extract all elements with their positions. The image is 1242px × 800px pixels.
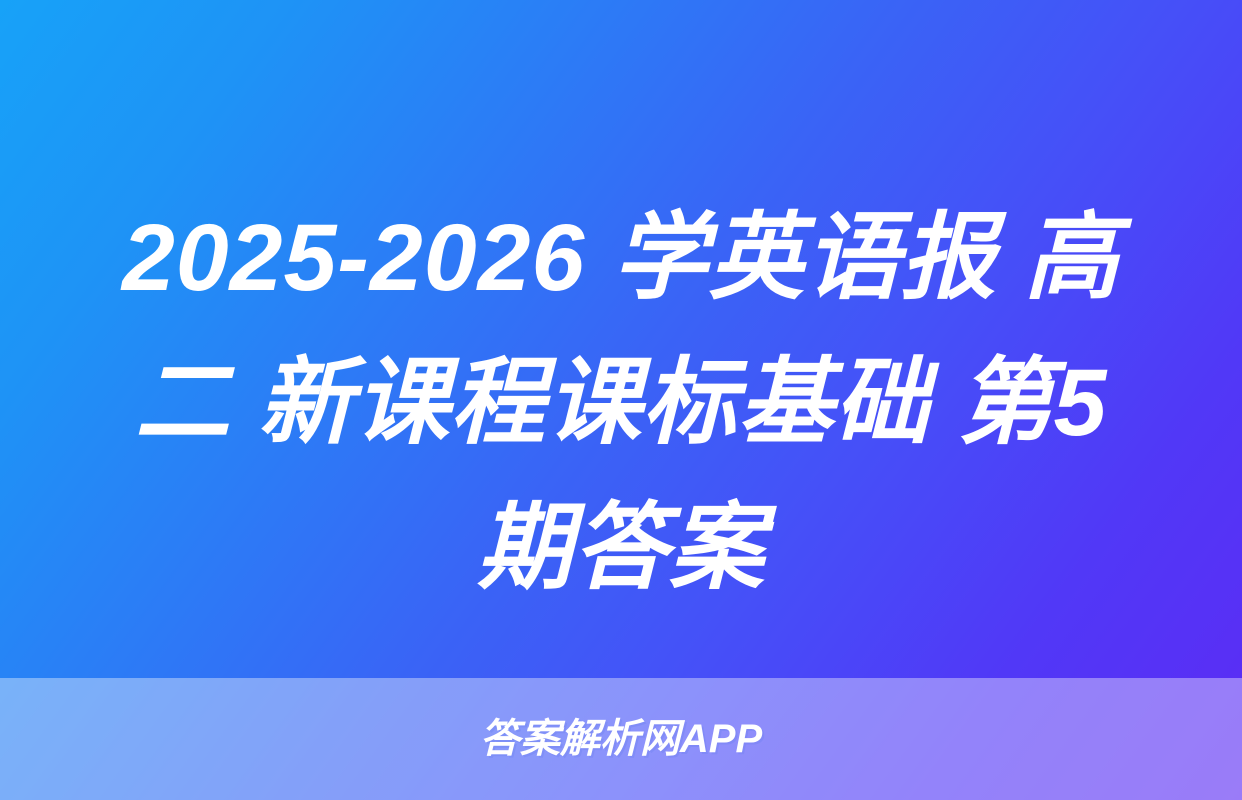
page-title-line-1: 2025-2026 学英语报 高 — [40, 186, 1202, 331]
page-title-line-2: 二 新课程课标基础 第5 — [40, 331, 1202, 476]
brand-watermark-band: 答案解析网APP — [0, 678, 1242, 800]
poster-canvas: 2025-2026 学英语报 高 二 新课程课标基础 第5 期答案 答案解析网A… — [0, 0, 1242, 800]
brand-watermark-label: 答案解析网APP — [480, 719, 762, 759]
page-title-line-3: 期答案 — [40, 476, 1202, 621]
page-title: 2025-2026 学英语报 高 二 新课程课标基础 第5 期答案 — [0, 186, 1242, 621]
